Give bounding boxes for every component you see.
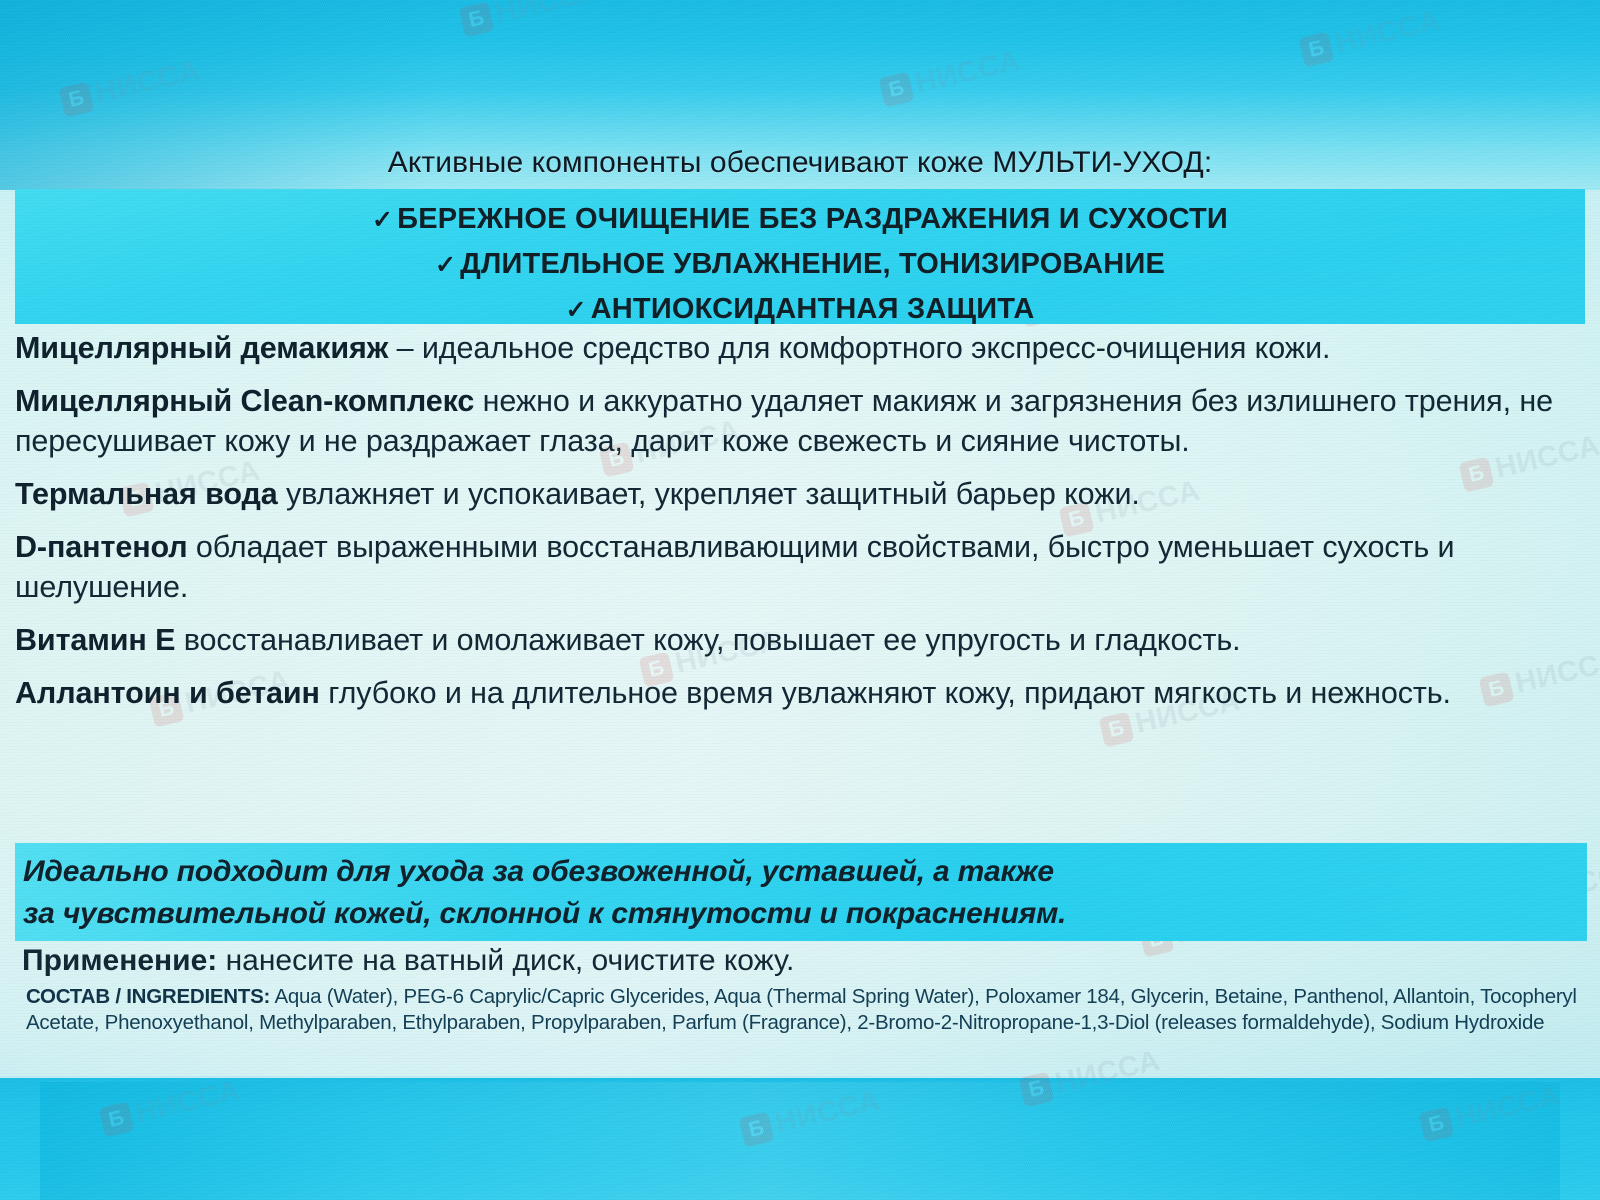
- description-paragraph: Витамин Е восстанавливает и омолаживает …: [15, 620, 1590, 660]
- benefit-row: ✓АНТИОКСИДАНТНАЯ ЗАЩИТА: [15, 287, 1585, 332]
- description-paragraph: D-пантенол обладает выраженными восстана…: [15, 527, 1590, 607]
- usage-line: Применение: нанесите на ватный диск, очи…: [22, 944, 794, 978]
- check-icon: ✓: [435, 251, 456, 279]
- usage-label: Применение:: [22, 944, 217, 977]
- product-label-image: БНИССА БНИССА БНИССА БНИССА БНИССА БНИСС…: [0, 0, 1600, 1200]
- check-icon: ✓: [565, 296, 586, 324]
- ingredient-description: – идеальное средство для комфортного экс…: [388, 331, 1330, 365]
- benefit-label: АНТИОКСИДАНТНАЯ ЗАЩИТА: [591, 293, 1035, 325]
- benefit-label: БЕРЕЖНОЕ ОЧИЩЕНИЕ БЕЗ РАЗДРАЖЕНИЯ И СУХО…: [397, 203, 1228, 235]
- ingredient-description: глубоко и на длительное время увлажняют …: [320, 676, 1451, 710]
- ingredient-name: Витамин Е: [15, 623, 175, 657]
- ingredient-name: Мицеллярный Clean-комплекс: [15, 384, 474, 418]
- benefit-row: ✓ДЛИТЕЛЬНОЕ УВЛАЖНЕНИЕ, ТОНИЗИРОВАНИЕ: [15, 242, 1585, 287]
- bottom-background-sheen: [40, 1082, 1560, 1200]
- description-paragraph: Термальная вода увлажняет и успокаивает,…: [15, 474, 1590, 514]
- benefit-row: ✓БЕРЕЖНОЕ ОЧИЩЕНИЕ БЕЗ РАЗДРАЖЕНИЯ И СУХ…: [15, 189, 1585, 242]
- ingredient-name: Термальная вода: [15, 477, 278, 511]
- ingredient-description: обладает выраженными восстанавливающими …: [15, 530, 1454, 604]
- ingredient-description-list: Мицеллярный демакияж – идеальное средств…: [15, 328, 1590, 726]
- ingredient-description: увлажняет и успокаивает, укрепляет защит…: [278, 477, 1140, 511]
- ingredient-name: Аллантоин и бетаин: [15, 676, 320, 710]
- benefits-band: ✓БЕРЕЖНОЕ ОЧИЩЕНИЕ БЕЗ РАЗДРАЖЕНИЯ И СУХ…: [15, 189, 1585, 324]
- ingredient-description: восстанавливает и омолаживает кожу, повы…: [175, 623, 1240, 657]
- benefit-label: ДЛИТЕЛЬНОЕ УВЛАЖНЕНИЕ, ТОНИЗИРОВАНИЕ: [460, 248, 1165, 280]
- check-icon: ✓: [372, 206, 393, 234]
- description-paragraph: Мицеллярный Clean-комплекс нежно и аккур…: [15, 381, 1590, 461]
- headline-text: Активные компоненты обеспечивают коже МУ…: [0, 146, 1600, 180]
- description-paragraph: Мицеллярный демакияж – идеальное средств…: [15, 328, 1590, 368]
- ingredient-name: D-пантенол: [15, 530, 188, 564]
- ingredients-block: СОСТАВ / INGREDIENTS: Aqua (Water), PEG-…: [26, 984, 1588, 1036]
- suitability-band: Идеально подходит для ухода за обезвожен…: [15, 843, 1587, 941]
- ingredient-name: Мицеллярный демакияж: [15, 331, 388, 365]
- suitability-line-2: за чувствительной кожей, склонной к стян…: [15, 893, 1587, 935]
- suitability-line-1: Идеально подходит для ухода за обезвожен…: [15, 843, 1587, 893]
- usage-text: нанесите на ватный диск, очистите кожу.: [217, 944, 794, 977]
- ingredients-label: СОСТАВ / INGREDIENTS:: [26, 985, 270, 1008]
- description-paragraph: Аллантоин и бетаин глубоко и на длительн…: [15, 673, 1590, 713]
